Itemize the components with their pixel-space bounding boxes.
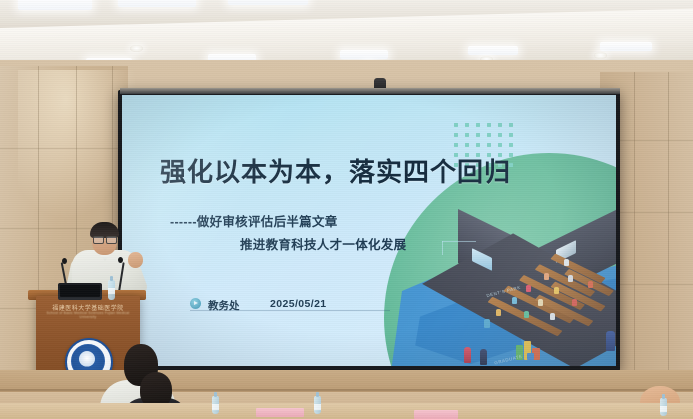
water-bottle <box>314 396 321 414</box>
speaker-hand <box>128 252 143 268</box>
classroom-student <box>572 299 577 306</box>
classroom-student <box>538 299 543 306</box>
classroom-student <box>524 311 529 318</box>
bottle-label <box>108 288 115 294</box>
walking-person <box>606 331 615 351</box>
play-circle-icon <box>190 298 201 309</box>
classroom-student <box>496 309 501 316</box>
isometric-classroom-illustration: DENT'S PARK GRADUATE <box>438 223 616 366</box>
ceiling-panel-light <box>340 50 388 59</box>
wall-seam <box>634 72 635 419</box>
slide-title: 强化以本为本，落实四个回归 <box>160 152 511 189</box>
classroom-student <box>526 285 531 292</box>
pink-document <box>414 410 458 419</box>
classroom-student <box>554 287 559 294</box>
podium-nameplate: 福建医科大学基础医学院 School of Basic Medical Scie… <box>44 303 132 319</box>
pink-document <box>256 408 304 417</box>
illustration-caption-2: GRADUATE <box>494 354 523 366</box>
wall-seam <box>668 72 669 419</box>
classroom-teacher <box>484 319 490 328</box>
ceiling-panel-light <box>600 42 652 51</box>
lecture-hall-photo: DENT'S PARK GRADUATE 强化以本为本，落实四个回归 -----… <box>0 0 693 419</box>
emblem-center-mark <box>79 351 95 367</box>
water-bottle <box>660 398 667 416</box>
classroom-student <box>544 273 549 280</box>
glasses-icon <box>93 236 116 242</box>
ceiling-panel-light <box>118 0 196 7</box>
decorative-line <box>442 241 443 255</box>
bottle-label <box>314 404 321 410</box>
slide-footer-date: 2025/05/21 <box>270 298 327 310</box>
classroom-student <box>564 259 569 266</box>
slide-footer-department: 教务处 <box>208 298 240 313</box>
ceiling-panel-light <box>468 46 518 55</box>
classroom-student <box>550 313 555 320</box>
microphone-head <box>62 258 67 264</box>
wall-seam-horizontal <box>0 148 120 149</box>
stage-seam <box>0 389 693 391</box>
decorative-line <box>442 241 476 242</box>
bottle-label <box>212 404 219 410</box>
water-bottle <box>212 396 219 414</box>
slide-subtitle-line2: 推进教育科技人才一体化发展 <box>240 234 406 253</box>
laptop-screen <box>60 285 100 297</box>
classroom-student <box>588 281 593 288</box>
bottle-label <box>660 406 667 412</box>
ceiling-panel-light <box>228 0 308 5</box>
ceiling-downlight <box>130 45 143 52</box>
podium-nameplate-en: School of Basic Medical Sciences Fujian … <box>44 311 132 319</box>
classroom-student <box>568 275 573 282</box>
walking-person <box>464 347 471 363</box>
ceiling-downlight <box>594 52 607 59</box>
water-bottle <box>108 280 115 300</box>
presentation-slide: DENT'S PARK GRADUATE 强化以本为本，落实四个回归 -----… <box>122 95 616 366</box>
walking-person <box>480 349 487 365</box>
microphone-head <box>118 257 123 263</box>
laptop <box>58 283 102 300</box>
screen-top-bezel <box>120 88 620 94</box>
ceiling-panel-light <box>18 0 92 10</box>
audience-table <box>0 403 693 419</box>
classroom-student <box>512 297 517 304</box>
slide-subtitle-line1: ------做好审核评估后半篇文章 <box>170 211 338 230</box>
